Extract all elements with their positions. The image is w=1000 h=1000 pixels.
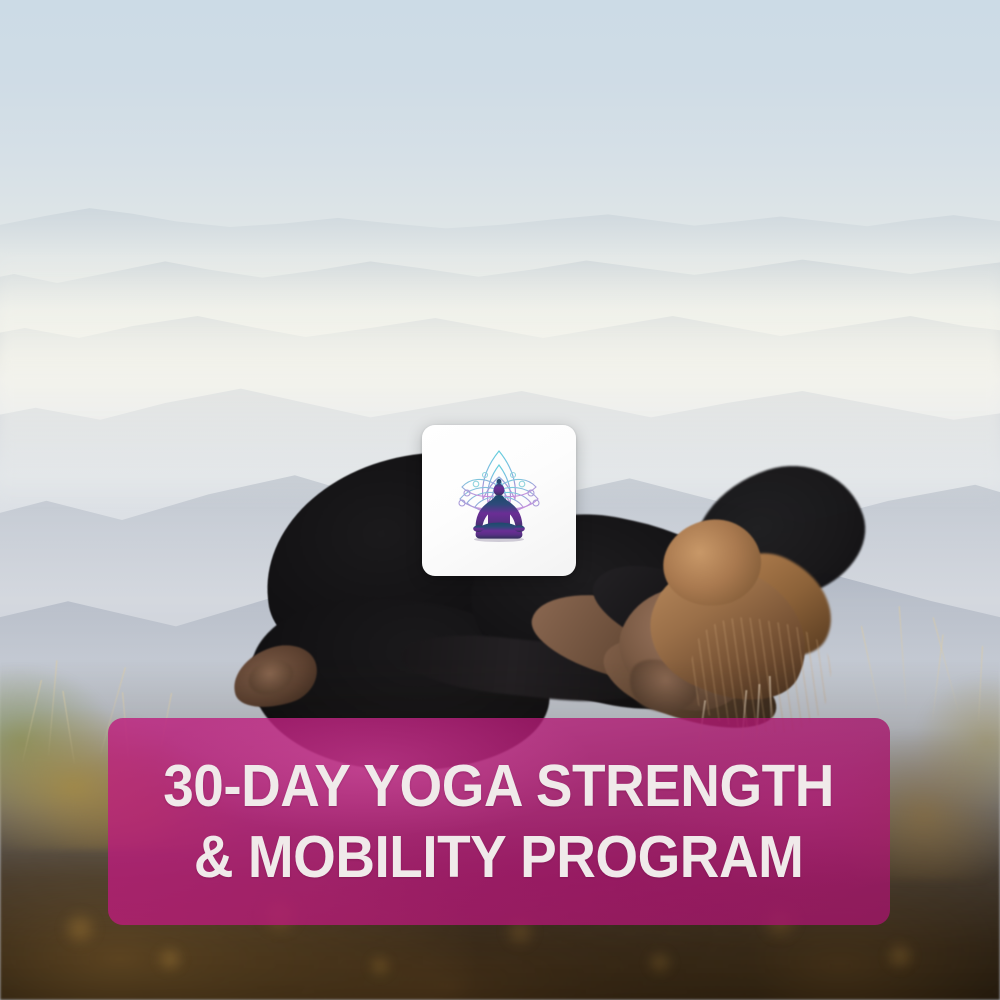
yoga-program-poster: 30-DAY YOGA STRENGTH & MOBILITY PROGRAM	[0, 0, 1000, 1000]
program-title-line-1: 30-DAY YOGA STRENGTH	[164, 756, 835, 816]
meditation-lotus-logo-icon	[440, 437, 558, 565]
program-title-banner: 30-DAY YOGA STRENGTH & MOBILITY PROGRAM	[108, 718, 890, 925]
brand-logo-badge[interactable]	[422, 425, 576, 576]
program-title-line-2: & MOBILITY PROGRAM	[194, 827, 803, 887]
